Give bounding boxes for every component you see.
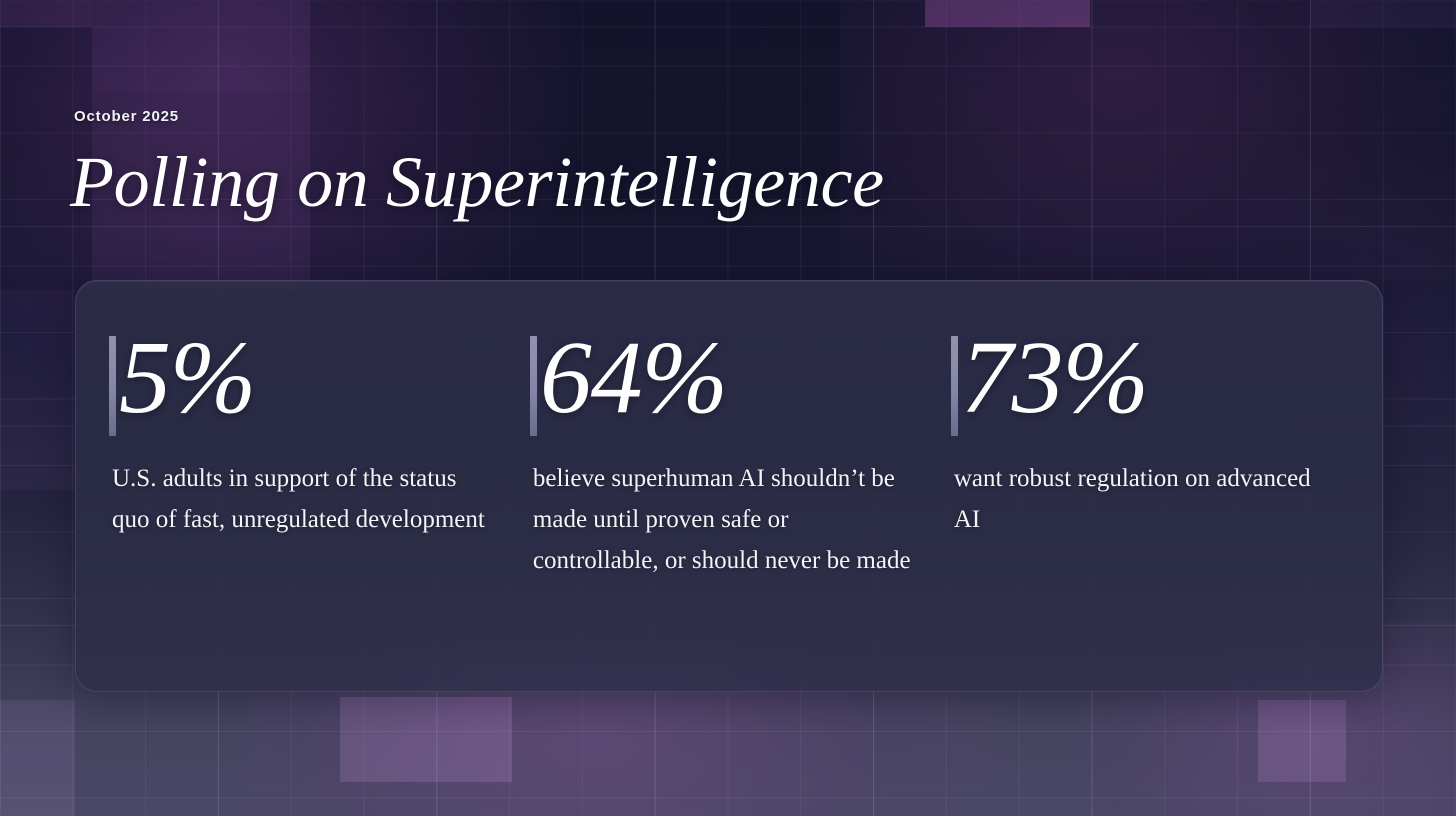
stat-block-1: 5% U.S. adults in support of the status … [109, 323, 530, 540]
stats-card: 5% U.S. adults in support of the status … [75, 280, 1383, 692]
stat-value-1: 5% [119, 323, 255, 433]
accent-bar-icon [530, 336, 537, 436]
stats-row: 5% U.S. adults in support of the status … [109, 323, 1362, 581]
stat-value-2: 64% [540, 323, 727, 433]
stat-block-2: 64% believe superhuman AI shouldn’t be m… [530, 323, 951, 581]
page-content: October 2025 Polling on Superintelligenc… [0, 0, 1456, 816]
date-eyebrow: October 2025 [74, 108, 179, 125]
stat-value-row-2: 64% [530, 323, 951, 436]
stat-value-row-3: 73% [951, 323, 1362, 436]
stat-block-3: 73% want robust regulation on advanced A… [951, 323, 1362, 540]
stat-value-3: 73% [961, 323, 1148, 433]
page-title: Polling on Superintelligence [70, 146, 884, 218]
accent-bar-icon [951, 336, 958, 436]
stat-description-3: want robust regulation on advanced AI [951, 458, 1323, 540]
accent-bar-icon [109, 336, 116, 436]
stat-description-2: believe superhuman AI shouldn’t be made … [530, 458, 920, 581]
stat-value-row-1: 5% [109, 323, 530, 436]
stat-description-1: U.S. adults in support of the status quo… [109, 458, 499, 540]
